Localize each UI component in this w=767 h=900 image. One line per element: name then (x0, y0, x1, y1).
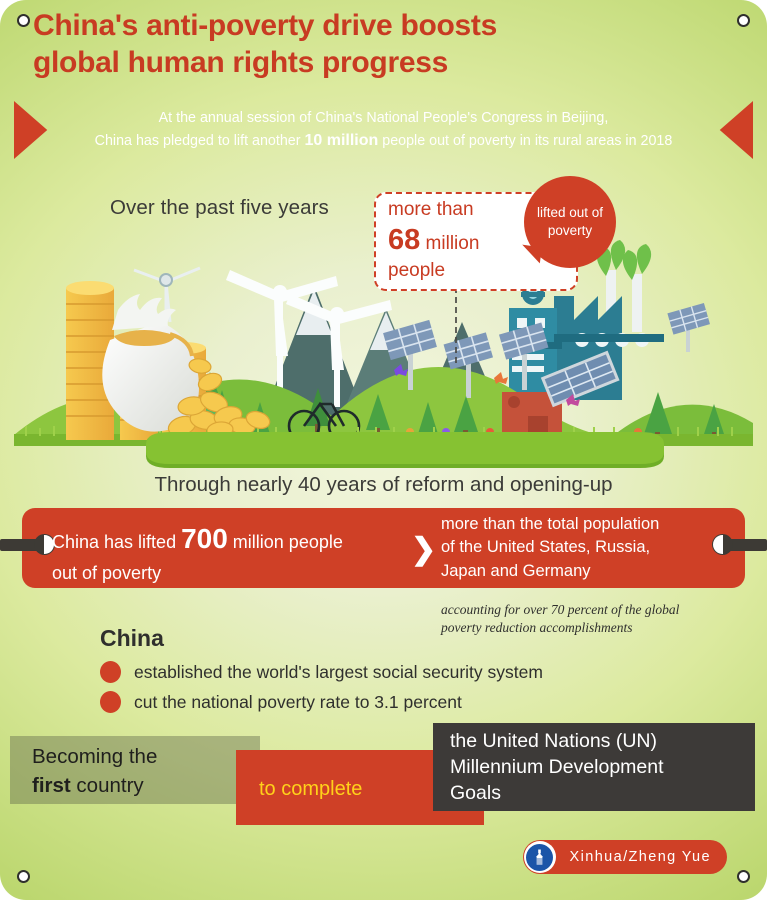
note-line-2: poverty reduction accomplishments (441, 619, 741, 637)
olive-line-1: Becoming the (32, 742, 257, 771)
screw-icon-top-right (737, 14, 750, 27)
olive-bold: first (32, 774, 71, 797)
bullet-dot-icon (100, 661, 121, 683)
headline-line-2: global human rights progress (33, 45, 693, 82)
becoming-first-text: Becoming the first country (32, 742, 257, 800)
xinhua-tower-icon (530, 848, 549, 867)
un-goals-line-3: Goals (450, 781, 750, 807)
ribbon-line-2: China has pledged to lift another 10 mil… (95, 129, 673, 154)
un-goals-text: the United Nations (UN) Millennium Devel… (450, 729, 750, 807)
screw-icon-bottom-left (17, 870, 30, 883)
olive-post: country (71, 774, 144, 797)
credit-badge: Xinhua/Zheng Yue (523, 840, 727, 874)
xinhua-logo-icon (524, 841, 556, 873)
chevron-right-icon: ❯ (411, 535, 436, 565)
un-goals-line-2: Millennium Development (450, 755, 750, 781)
reform-label: Through nearly 40 years of reform and op… (0, 473, 767, 497)
china-section-heading: China (100, 625, 164, 652)
un-goals-line-1: the United Nations (UN) (450, 729, 750, 755)
headline-line-1: China's anti-poverty drive boosts (33, 9, 497, 42)
past-five-years-label: Over the past five years (110, 196, 329, 220)
callout-number: 68 (388, 224, 420, 256)
banner-left-post: million people (228, 532, 343, 552)
banner-left-line-2: out of poverty (52, 563, 161, 583)
banner-right-line-3: Japan and Germany (441, 560, 741, 583)
xinhua-logo-inner (526, 844, 553, 871)
note-line-1: accounting for over 70 percent of the gl… (441, 601, 741, 619)
credit-label: Xinhua/Zheng Yue (570, 849, 711, 865)
bullet-dot-icon (100, 691, 121, 713)
infographic-poster: China's anti-poverty drive boosts global… (0, 0, 767, 900)
ribbon-line-2-post: people out of poverty in its rural areas… (378, 133, 672, 149)
banner-right-line-1: more than the total population (441, 513, 741, 536)
banner-left-pre: China has lifted (52, 532, 181, 552)
bullet-label: cut the national poverty rate to 3.1 per… (134, 692, 462, 713)
banner-right-line-2: of the United States, Russia, (441, 536, 741, 559)
to-complete-label: to complete (259, 778, 464, 801)
callout-line-3: people (388, 259, 563, 283)
red-banner-right-text: more than the total population of the Un… (441, 513, 741, 583)
ribbon-text: At the annual session of China's Nationa… (40, 103, 727, 157)
ribbon-line-1: At the annual session of China's Nationa… (159, 107, 609, 129)
screw-icon-top-left (17, 14, 30, 27)
page-title: China's anti-poverty drive boosts global… (33, 8, 693, 81)
callout-unit: million (426, 233, 480, 254)
ribbon-highlight-10-million: 10 million (304, 132, 378, 149)
ribbon-line-2-pre: China has pledged to lift another (95, 133, 305, 149)
list-item: cut the national poverty rate to 3.1 per… (100, 691, 462, 713)
lifted-out-of-poverty-badge: lifted out of poverty (524, 176, 616, 268)
banner-number-700: 700 (181, 523, 228, 554)
accounting-note: accounting for over 70 percent of the gl… (441, 601, 741, 637)
bullet-label: established the world's largest social s… (134, 662, 543, 683)
olive-line-2: first country (32, 771, 257, 800)
list-item: established the world's largest social s… (100, 661, 543, 683)
screw-icon-bottom-right (737, 870, 750, 883)
red-banner-left-text: China has lifted 700 million people out … (52, 519, 422, 586)
callout-leader-line (455, 287, 457, 363)
